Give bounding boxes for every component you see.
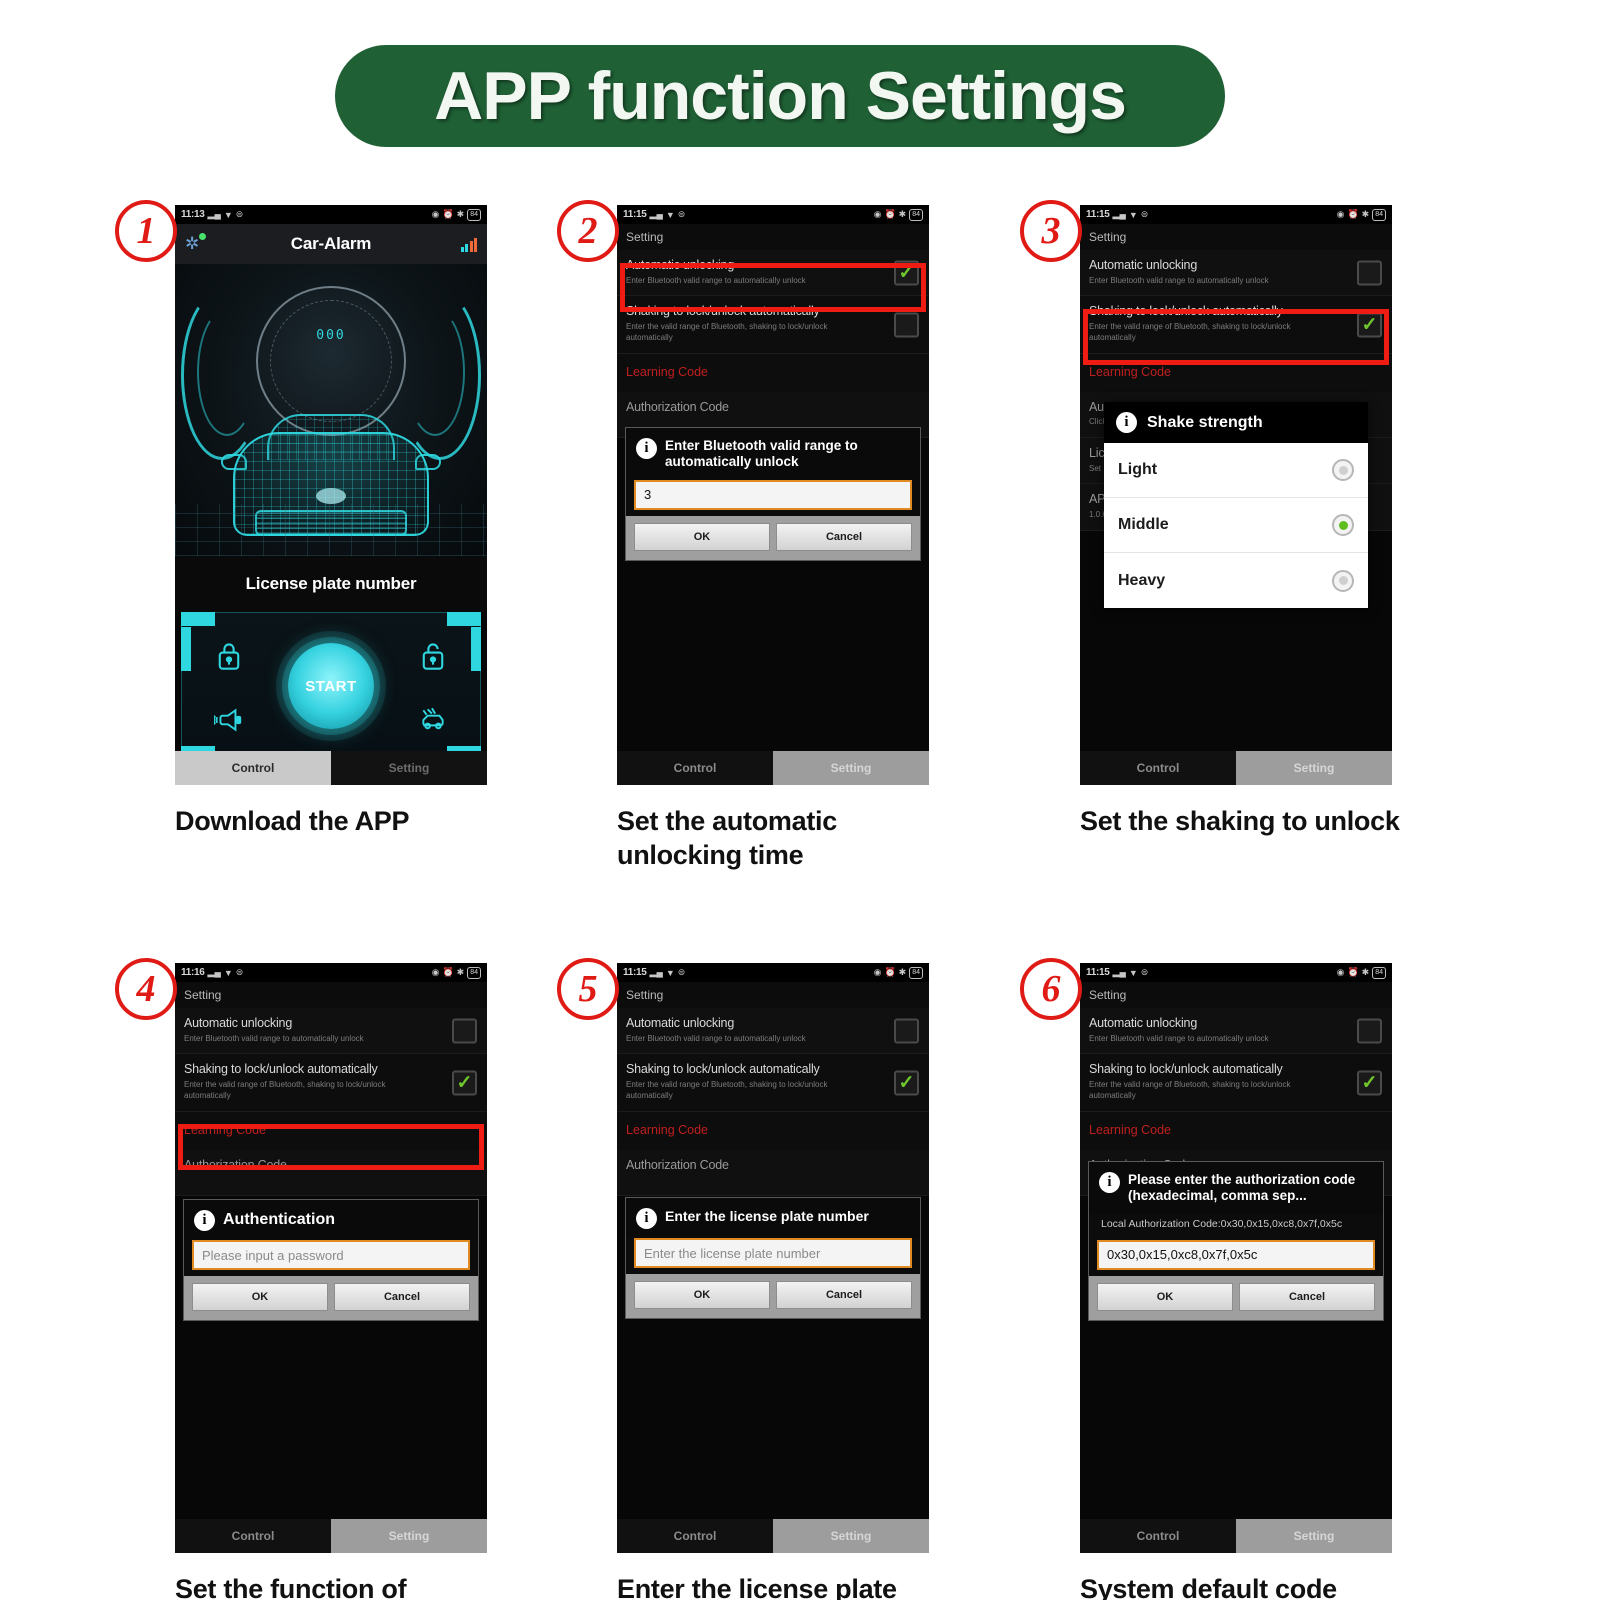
dialog-title: Authentication: [223, 1210, 335, 1230]
start-button[interactable]: START: [288, 643, 374, 729]
checkbox-shaking[interactable]: ✓: [1357, 1070, 1382, 1095]
battery-icon: 84: [909, 967, 923, 979]
dialog-enter-license-plate: i Enter the license plate number Enter t…: [625, 1197, 921, 1319]
signal-bars-icon: ▂▄: [208, 209, 221, 220]
radio-label: Middle: [1118, 516, 1169, 534]
setting-title-text: Shaking to lock/unlock automatically: [626, 304, 873, 320]
location-icon: ◉: [874, 967, 882, 978]
checkbox-shaking[interactable]: ✓: [452, 1070, 477, 1095]
setting-sub-text: Enter the valid range of Bluetooth, shak…: [626, 322, 873, 344]
password-input[interactable]: Please input a password: [192, 1240, 470, 1270]
tab-setting[interactable]: Setting: [1236, 1519, 1392, 1553]
setting-title-text: Authorization Code: [626, 400, 873, 416]
app-title: Car-Alarm: [175, 234, 487, 254]
siren-icon[interactable]: [208, 699, 250, 741]
bluetooth-status-icon: ✱: [1362, 209, 1370, 220]
setting-row-shaking[interactable]: Shaking to lock/unlock automatically Ent…: [617, 296, 929, 353]
setting-row-authorization-code[interactable]: Authorization Code: [175, 1150, 487, 1196]
tab-control[interactable]: Control: [1080, 1519, 1236, 1553]
checkbox-shaking[interactable]: ✓: [894, 1070, 919, 1095]
license-plate-label: License plate number: [175, 556, 487, 612]
setting-row-learning-code[interactable]: Learning Code: [617, 1112, 929, 1150]
page-title-banner: APP function Settings: [335, 45, 1225, 147]
sync-icon: ⊜: [678, 967, 686, 978]
setting-row-learning-code[interactable]: Learning Code: [1080, 354, 1392, 392]
step-caption-1: Download the APP: [175, 805, 595, 839]
setting-sub-text: Enter Bluetooth valid range to automatic…: [626, 1034, 873, 1045]
alarm-icon: ⏰: [1347, 967, 1358, 978]
bottom-tab-bar: Control Setting: [1080, 1519, 1392, 1553]
battery-icon: 84: [1372, 967, 1386, 979]
trunk-icon[interactable]: [412, 699, 454, 741]
checkbox-automatic-unlocking[interactable]: ✓: [1357, 1018, 1382, 1043]
location-icon: ◉: [432, 967, 440, 978]
tab-control[interactable]: Control: [617, 751, 773, 785]
dialog-title: Shake strength: [1147, 414, 1263, 432]
tab-setting[interactable]: Setting: [773, 1519, 929, 1553]
phone-screen-5: 11:15 ▂▄ ▼ ⊜ ◉ ⏰ ✱ 84 Setting: [617, 963, 929, 1553]
phone-screen-1: 11:13 ▂▄ ▼ ⊜ ◉ ⏰ ✱ 84: [175, 205, 487, 785]
setting-title-text: Authorization Code: [626, 1158, 873, 1174]
setting-row-automatic-unlocking[interactable]: Automatic unlocking Enter Bluetooth vali…: [1080, 1008, 1392, 1054]
setting-sub-text: Enter the valid range of Bluetooth, shak…: [626, 1080, 873, 1102]
license-plate-input[interactable]: Enter the license plate number: [634, 1238, 912, 1268]
wifi-icon: ▼: [1129, 968, 1138, 978]
setting-sub-text: Enter the valid range of Bluetooth, shak…: [1089, 1080, 1336, 1102]
status-time: 11:16: [181, 967, 205, 978]
status-time: 11:13: [181, 209, 205, 220]
bottom-tab-bar: Control Setting: [175, 751, 487, 785]
tab-setting[interactable]: Setting: [331, 751, 487, 785]
car-hero-graphic: 000: [175, 264, 487, 556]
setting-title-text: Shaking to lock/unlock automatically: [626, 1062, 873, 1078]
signal-bars-icon: ▂▄: [1113, 209, 1126, 220]
location-icon: ◉: [432, 209, 440, 220]
radio-button-light[interactable]: [1332, 459, 1354, 481]
signal-bars-icon: ▂▄: [650, 209, 663, 220]
step-number-badge-2: 2: [557, 200, 619, 262]
phone-screen-2: 11:15 ▂▄ ▼ ⊜ ◉ ⏰ ✱ 84 Setting: [617, 205, 929, 785]
alarm-icon: ⏰: [442, 967, 453, 978]
bluetooth-status-icon: ✱: [457, 967, 465, 978]
setting-row-learning-code[interactable]: Learning Code: [175, 1112, 487, 1150]
cancel-button[interactable]: Cancel: [776, 1281, 912, 1309]
radio-label: Light: [1118, 461, 1157, 479]
settings-list: Automatic unlocking Enter Bluetooth vali…: [175, 1008, 487, 1196]
setting-row-automatic-unlocking[interactable]: Automatic unlocking Enter Bluetooth vali…: [617, 250, 929, 296]
local-authorization-code-text: Local Authorization Code:0x30,0x15,0xc8,…: [1089, 1214, 1383, 1240]
setting-row-shaking[interactable]: Shaking to lock/unlock automatically Ent…: [617, 1054, 929, 1111]
setting-title-text: Authorization Code: [184, 1158, 431, 1174]
dialog-authentication: i Authentication Please input a password…: [183, 1199, 479, 1321]
battery-icon: 84: [467, 967, 481, 979]
radio-button-middle[interactable]: [1332, 514, 1354, 536]
gauge-reading: 000: [316, 328, 345, 343]
radio-label: Heavy: [1118, 572, 1165, 590]
checkbox-automatic-unlocking[interactable]: ✓: [894, 260, 919, 285]
setting-row-shaking[interactable]: Shaking to lock/unlock automatically Ent…: [175, 1054, 487, 1111]
setting-page-title: Setting: [1080, 982, 1392, 1008]
dialog-title: Enter Bluetooth valid range to automatic…: [665, 438, 910, 471]
info-icon: i: [636, 1208, 657, 1229]
tab-control[interactable]: Control: [175, 751, 331, 785]
setting-row-shaking[interactable]: Shaking to lock/unlock automatically Ent…: [1080, 296, 1392, 353]
wifi-icon: ▼: [666, 968, 675, 978]
signal-bars-icon: ▂▄: [650, 967, 663, 978]
bottom-tab-bar: Control Setting: [617, 751, 929, 785]
status-time: 11:15: [623, 967, 647, 978]
phone-screen-4: 11:16 ▂▄ ▼ ⊜ ◉ ⏰ ✱ 84 Setting: [175, 963, 487, 1553]
cancel-button[interactable]: Cancel: [1239, 1283, 1375, 1311]
step-caption-5: Enter the license plate number: [617, 1573, 1037, 1600]
dialog-title: Please enter the authorization code (hex…: [1128, 1172, 1373, 1205]
alarm-icon: ⏰: [1347, 209, 1358, 220]
bluetooth-status-icon: ✱: [899, 209, 907, 220]
alarm-icon: ⏰: [884, 967, 895, 978]
ok-button[interactable]: OK: [634, 1281, 770, 1309]
sync-icon: ⊜: [1141, 209, 1149, 220]
unlock-icon[interactable]: [412, 635, 454, 677]
steps-row-2: 4 11:16 ▂▄ ▼ ⊜ ◉ ⏰ ✱ 84: [0, 938, 1600, 1600]
wifi-icon: ▼: [1129, 210, 1138, 220]
checkbox-automatic-unlocking[interactable]: ✓: [452, 1018, 477, 1043]
settings-list: Automatic unlocking Enter Bluetooth vali…: [617, 250, 929, 438]
setting-row-automatic-unlocking[interactable]: Automatic unlocking Enter Bluetooth vali…: [175, 1008, 487, 1054]
step-number-badge-4: 4: [115, 958, 177, 1020]
ok-button[interactable]: OK: [192, 1283, 328, 1311]
checkbox-automatic-unlocking[interactable]: ✓: [894, 1018, 919, 1043]
app-bar: ✲ Car-Alarm: [175, 224, 487, 264]
radio-option-light[interactable]: Light: [1104, 443, 1368, 498]
signal-bars-icon: ▂▄: [1113, 967, 1126, 978]
status-bar: 11:15 ▂▄ ▼ ⊜ ◉ ⏰ ✱ 84: [617, 205, 929, 224]
step-caption-3: Set the shaking to unlock: [1080, 805, 1550, 839]
ok-button[interactable]: OK: [1097, 1283, 1233, 1311]
setting-title-text: Automatic unlocking: [1089, 1016, 1336, 1032]
phone-screen-6: 11:15 ▂▄ ▼ ⊜ ◉ ⏰ ✱ 84 Setting: [1080, 963, 1392, 1553]
setting-sub-text: Enter Bluetooth valid range to automatic…: [626, 276, 873, 287]
status-bar: 11:15 ▂▄ ▼ ⊜ ◉ ⏰ ✱ 84: [1080, 205, 1392, 224]
checkbox-shaking[interactable]: ✓: [894, 312, 919, 337]
dialog-enter-bluetooth-range: i Enter Bluetooth valid range to automat…: [625, 427, 921, 561]
setting-title-text: Shaking to lock/unlock automatically: [184, 1062, 431, 1078]
alarm-icon: ⏰: [884, 209, 895, 220]
tab-control[interactable]: Control: [617, 1519, 773, 1553]
tab-setting[interactable]: Setting: [773, 751, 929, 785]
sync-icon: ⊜: [236, 967, 244, 978]
setting-row-learning-code[interactable]: Learning Code: [1080, 1112, 1392, 1150]
checkbox-automatic-unlocking[interactable]: ✓: [1357, 260, 1382, 285]
phone-screen-3: 11:15 ▂▄ ▼ ⊜ ◉ ⏰ ✱ 84 Setting: [1080, 205, 1392, 785]
checkbox-shaking[interactable]: ✓: [1357, 312, 1382, 337]
status-bar: 11:15 ▂▄ ▼ ⊜ ◉ ⏰ ✱ 84: [1080, 963, 1392, 982]
setting-title-text: Shaking to lock/unlock automatically: [1089, 1062, 1336, 1078]
sync-icon: ⊜: [1141, 967, 1149, 978]
battery-icon: 84: [1372, 209, 1386, 221]
setting-title-text: Automatic unlocking: [184, 1016, 431, 1032]
tab-control[interactable]: Control: [1080, 751, 1236, 785]
info-icon: i: [1116, 412, 1137, 433]
status-bar: 11:15 ▂▄ ▼ ⊜ ◉ ⏰ ✱ 84: [617, 963, 929, 982]
info-icon: i: [194, 1210, 215, 1231]
signal-strength-icon: [461, 236, 478, 252]
setting-sub-text: Enter the valid range of Bluetooth, shak…: [184, 1080, 431, 1102]
tab-control[interactable]: Control: [175, 1519, 331, 1553]
dialog-authorization-code: i Please enter the authorization code (h…: [1088, 1161, 1384, 1321]
steps-row-1: 1 11:13 ▂▄ ▼ ⊜ ◉ ⏰ ✱ 84: [0, 180, 1600, 880]
sync-icon: ⊜: [678, 209, 686, 220]
bluetooth-status-icon: ✱: [457, 209, 465, 220]
dialog-shake-strength: i Shake strength Light Middle Heavy: [1104, 402, 1368, 608]
location-icon: ◉: [1337, 209, 1345, 220]
step-caption-6: System default code (no editing required…: [1080, 1573, 1520, 1600]
step-number-badge-5: 5: [557, 958, 619, 1020]
setting-title-text: Automatic unlocking: [626, 258, 873, 274]
lock-icon[interactable]: [208, 635, 250, 677]
radio-option-heavy[interactable]: Heavy: [1104, 553, 1368, 608]
status-bar: 11:13 ▂▄ ▼ ⊜ ◉ ⏰ ✱ 84: [175, 205, 487, 224]
setting-sub-text: Enter Bluetooth valid range to automatic…: [1089, 276, 1336, 287]
app-function-settings-infographic: APP function Settings 1 11:13 ▂▄ ▼ ⊜: [0, 0, 1600, 1600]
setting-page-title: Setting: [617, 982, 929, 1008]
setting-sub-text: Enter the valid range of Bluetooth, shak…: [1089, 322, 1336, 344]
tab-setting[interactable]: Setting: [331, 1519, 487, 1553]
settings-list: Automatic unlocking Enter Bluetooth vali…: [617, 1008, 929, 1196]
dialog-title: Enter the license plate number: [665, 1208, 869, 1225]
info-icon: i: [1099, 1172, 1120, 1193]
setting-sub-text: Enter Bluetooth valid range to automatic…: [184, 1034, 431, 1045]
step-number-badge-6: 6: [1020, 958, 1082, 1020]
step-caption-4: Set the function of learning code: [175, 1573, 595, 1600]
authorization-code-input[interactable]: 0x30,0x15,0xc8,0x7f,0x5c: [1097, 1240, 1375, 1270]
setting-row-shaking[interactable]: Shaking to lock/unlock automatically Ent…: [1080, 1054, 1392, 1111]
bluetooth-status-icon: ✱: [899, 967, 907, 978]
battery-icon: 84: [467, 209, 481, 221]
setting-title-text: Automatic unlocking: [626, 1016, 873, 1032]
status-time: 11:15: [623, 209, 647, 220]
setting-sub-text: Enter Bluetooth valid range to automatic…: [1089, 1034, 1336, 1045]
status-time: 11:15: [1086, 967, 1110, 978]
bluetooth-status-icon: ✱: [1362, 967, 1370, 978]
radio-option-middle[interactable]: Middle: [1104, 498, 1368, 553]
step-caption-2: Set the automatic unlocking time: [617, 805, 1037, 873]
cancel-button[interactable]: Cancel: [776, 523, 912, 551]
ok-button[interactable]: OK: [634, 523, 770, 551]
setting-page-title: Setting: [1080, 224, 1392, 250]
step-number-badge-3: 3: [1020, 200, 1082, 262]
bottom-tab-bar: Control Setting: [617, 1519, 929, 1553]
step-number-badge-1: 1: [115, 200, 177, 262]
status-time: 11:15: [1086, 209, 1110, 220]
setting-row-authorization-code[interactable]: Authorization Code: [617, 1150, 929, 1196]
alarm-icon: ⏰: [442, 209, 453, 220]
setting-page-title: Setting: [617, 224, 929, 250]
setting-page-title: Setting: [175, 982, 487, 1008]
battery-icon: 84: [909, 209, 923, 221]
info-icon: i: [636, 438, 657, 459]
location-icon: ◉: [1337, 967, 1345, 978]
wifi-icon: ▼: [666, 210, 675, 220]
page-title: APP function Settings: [434, 57, 1126, 135]
setting-row-automatic-unlocking[interactable]: Automatic unlocking Enter Bluetooth vali…: [1080, 250, 1392, 296]
bluetooth-range-input[interactable]: 3: [634, 480, 912, 510]
steps-grid: 1 11:13 ▂▄ ▼ ⊜ ◉ ⏰ ✱ 84: [0, 180, 1600, 1600]
signal-bars-icon: ▂▄: [208, 967, 221, 978]
location-icon: ◉: [874, 209, 882, 220]
setting-row-learning-code[interactable]: Learning Code: [617, 354, 929, 392]
control-panel: START: [181, 612, 481, 760]
cancel-button[interactable]: Cancel: [334, 1283, 470, 1311]
grid-floor-decor: [175, 504, 487, 556]
radio-button-heavy[interactable]: [1332, 570, 1354, 592]
bottom-tab-bar: Control Setting: [175, 1519, 487, 1553]
tab-setting[interactable]: Setting: [1236, 751, 1392, 785]
sync-icon: ⊜: [236, 209, 244, 220]
wifi-icon: ▼: [224, 210, 233, 220]
setting-title-text: Shaking to lock/unlock automatically: [1089, 304, 1336, 320]
wifi-icon: ▼: [224, 968, 233, 978]
status-bar: 11:16 ▂▄ ▼ ⊜ ◉ ⏰ ✱ 84: [175, 963, 487, 982]
setting-title-text: Automatic unlocking: [1089, 258, 1336, 274]
bottom-tab-bar: Control Setting: [1080, 751, 1392, 785]
setting-row-automatic-unlocking[interactable]: Automatic unlocking Enter Bluetooth vali…: [617, 1008, 929, 1054]
